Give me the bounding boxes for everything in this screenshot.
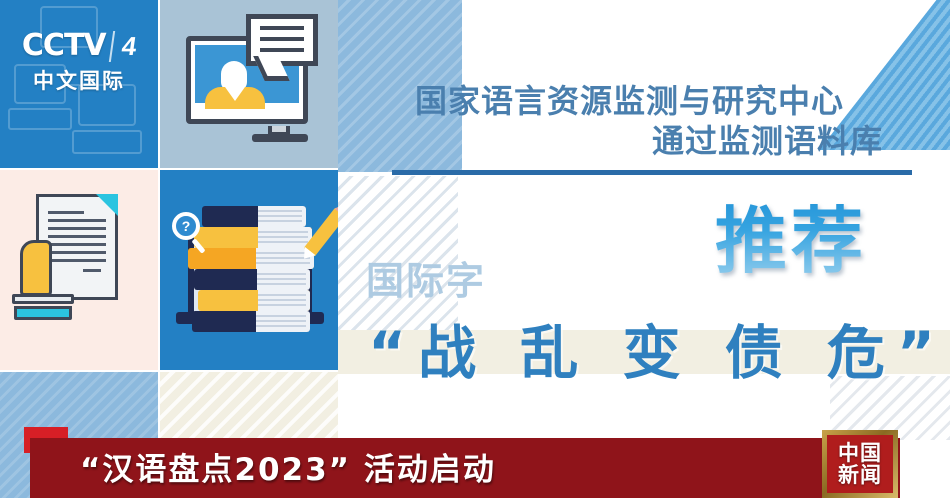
stamp-pad-icon <box>14 306 72 320</box>
video-monitor-cell <box>160 0 338 168</box>
cctv-wordmark: CCTV <box>22 28 106 63</box>
book-item <box>192 311 310 332</box>
channel-logo-cell: CCTV4 中文国际 <box>0 0 158 168</box>
book-item <box>194 269 310 290</box>
cctv-subtitle: 中文国际 <box>0 65 158 95</box>
magnifier-icon: ? <box>172 212 200 240</box>
document-stamp-cell <box>0 170 158 370</box>
news-program-badge: 中国 新闻 <box>822 430 898 498</box>
lower-third-text: “汉语盘点2023” 活动启动 <box>80 448 496 492</box>
book-item <box>202 206 306 227</box>
book-item <box>194 227 312 248</box>
hand-icon <box>20 240 52 296</box>
book-item <box>188 248 314 269</box>
headline-divider <box>392 170 912 175</box>
kicker-line-2: 通过监测语料库 <box>652 116 883 162</box>
news-badge-line-2: 新闻 <box>838 464 882 486</box>
person-body-icon <box>205 87 265 109</box>
books-laptop-cell: ? <box>160 170 338 370</box>
news-badge-line-1: 中国 <box>838 442 882 464</box>
cctv-channel-number: 4 <box>108 31 138 62</box>
category-label: 国际字 <box>366 250 486 305</box>
cctv-logo: CCTV4 中文国际 <box>0 28 158 95</box>
page-fold <box>96 194 118 216</box>
emphasis-word: 推荐 <box>715 182 867 287</box>
broadcast-screenshot: CCTV4 中文国际 <box>0 0 950 498</box>
book-item <box>198 290 310 311</box>
speech-bubble-icon <box>246 14 318 66</box>
stamp-base-icon <box>12 294 74 304</box>
monitor-stand <box>252 134 308 142</box>
main-title: “战 乱 变 债 危” <box>368 306 947 390</box>
